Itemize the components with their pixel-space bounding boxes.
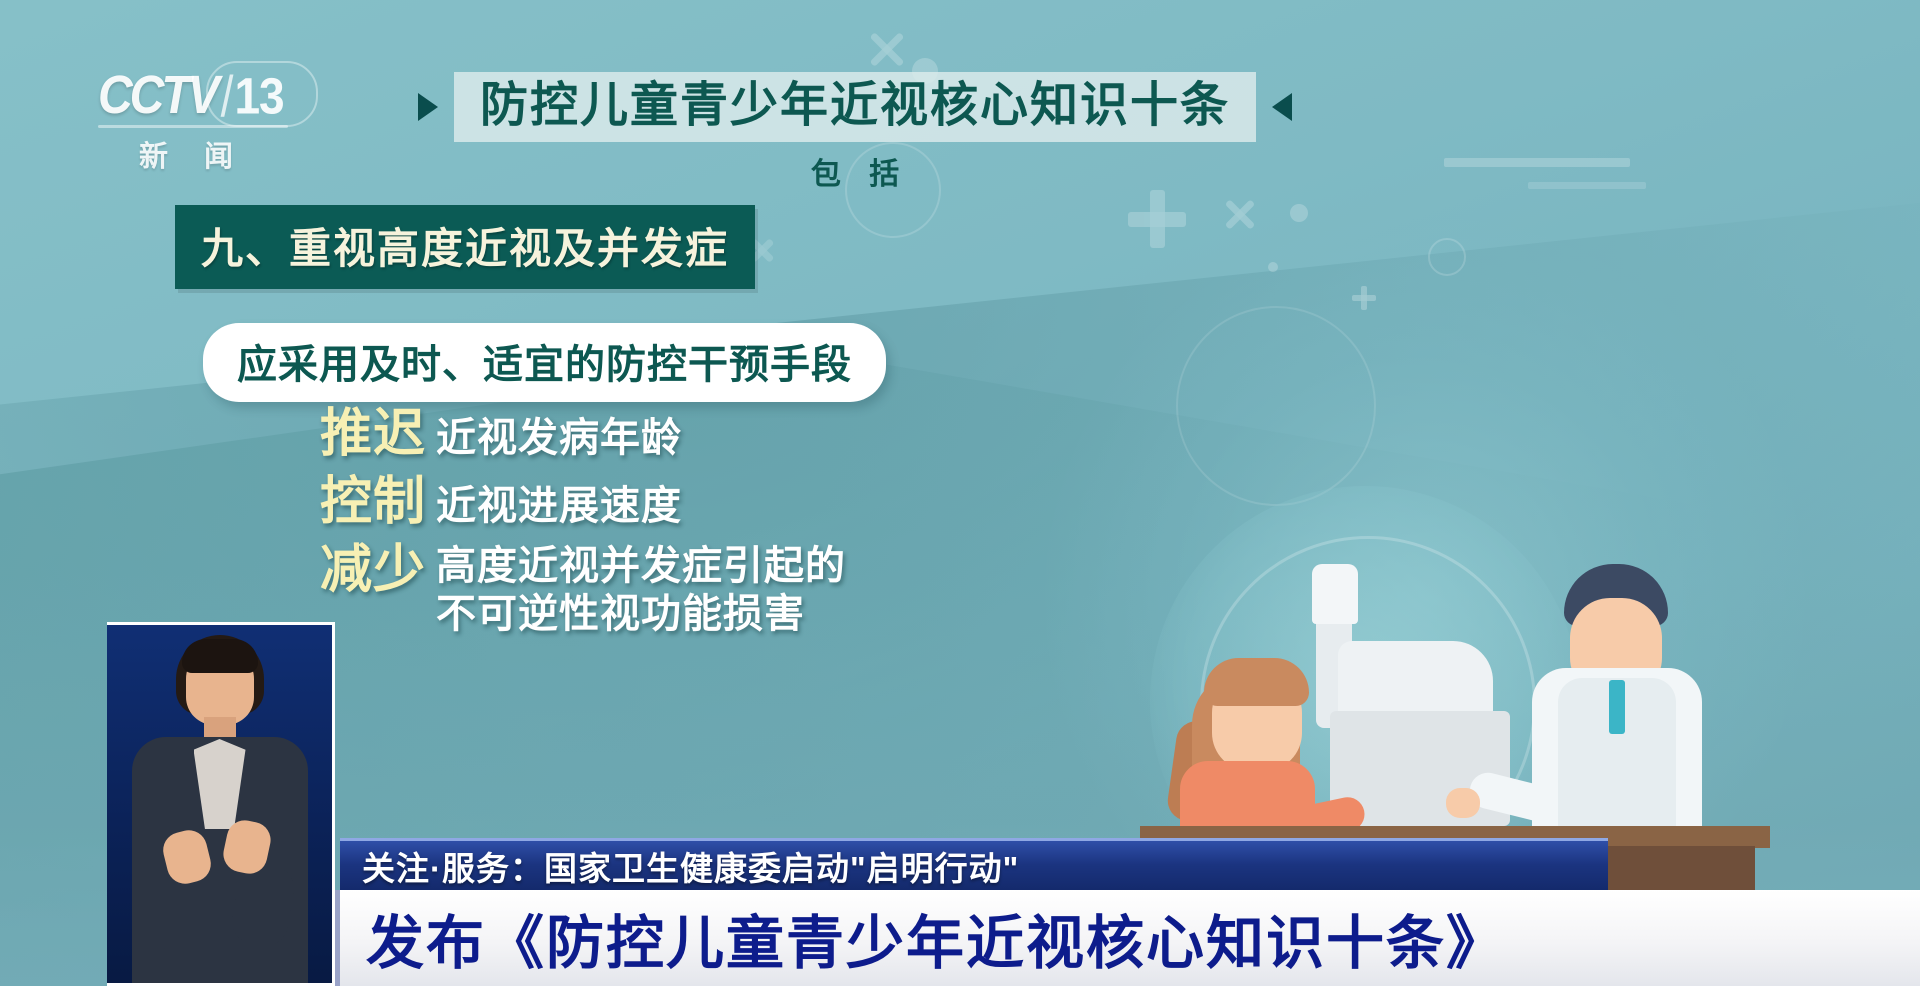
highlight-pill-label: 应采用及时、适宜的防控干预手段	[237, 343, 852, 387]
list-item: 控制 近视进展速度	[320, 473, 1080, 531]
background-bar-1	[1444, 158, 1630, 167]
section-banner: 九、重视高度近视及并发症	[175, 205, 755, 289]
section-label: 九、重视高度近视及并发症	[201, 225, 729, 272]
point-keyword: 减少	[320, 541, 426, 599]
header-title-row: 防控儿童青少年近视核心知识十条	[360, 72, 1350, 142]
point-description: 近视发病年龄	[426, 405, 682, 462]
header-block: 防控儿童青少年近视核心知识十条 包 括	[360, 72, 1350, 193]
list-item: 减少 高度近视并发症引起的 不可逆性视功能损害	[320, 541, 1080, 637]
logo-channel-number: 13	[234, 66, 283, 125]
x-mark-icon-2	[1222, 196, 1258, 232]
x-mark-icon-1	[866, 28, 908, 70]
slit-lamp-head-icon	[1312, 564, 1358, 624]
triangle-right-icon	[418, 93, 438, 121]
header-title-plate: 防控儿童青少年近视核心知识十条	[454, 72, 1256, 142]
background-dot-3	[1268, 262, 1278, 272]
point-description-line1: 近视发病年龄	[436, 416, 682, 460]
background-dot-2	[1290, 204, 1308, 222]
background-bar-2	[1528, 182, 1646, 189]
cctv13-logo-icon: CCTV / 13	[98, 68, 313, 123]
plus-icon-large	[1128, 190, 1186, 248]
point-description-line2: 不可逆性视功能损害	[436, 591, 846, 638]
background-ring-small	[1428, 238, 1466, 276]
doctor-tie	[1609, 680, 1625, 734]
header-subtitle: 包 括	[360, 149, 1350, 193]
presenter-fringe	[182, 639, 258, 673]
page-title: 防控儿童青少年近视核心知识十条	[480, 79, 1230, 132]
sign-language-interpreter	[107, 622, 335, 986]
broadcast-screen: CCTV / 13 新 闻 防控儿童青少年近视核心知识十条 包 括 九、重视高度…	[0, 0, 1920, 986]
ticker-text: 关注·服务：国家卫生健康委启动"启明行动"	[362, 842, 1019, 890]
point-keyword: 控制	[320, 473, 426, 531]
lower-third-headline: 发布《防控儿童青少年近视核心知识十条》	[340, 890, 1920, 986]
highlight-pill: 应采用及时、适宜的防控干预手段	[203, 323, 886, 402]
point-description: 近视进展速度	[426, 473, 682, 530]
point-description: 高度近视并发症引起的 不可逆性视功能损害	[426, 541, 846, 637]
plus-icon-small	[1352, 286, 1376, 310]
list-item: 推迟 近视发病年龄	[320, 405, 1080, 463]
girl-patient-fringe	[1204, 658, 1309, 706]
point-description-line1: 高度近视并发症引起的	[436, 543, 846, 590]
logo-sub-label: 新 闻	[98, 133, 288, 175]
lower-third-ticker: 关注·服务：国家卫生健康委启动"启明行动"	[340, 838, 1608, 890]
doctor-hand	[1446, 788, 1480, 818]
point-list: 推迟 近视发病年龄 控制 近视进展速度 减少 高度近视并发症引起的 不可逆性视功…	[320, 405, 1080, 648]
headline-text: 发布《防控儿童青少年近视核心知识十条》	[366, 896, 1506, 980]
logo-slash: /	[221, 62, 234, 130]
point-keyword: 推迟	[320, 405, 426, 463]
channel-logo: CCTV / 13 新 闻	[98, 68, 313, 175]
logo-network-text: CCTV	[98, 65, 217, 127]
triangle-left-icon	[1272, 93, 1292, 121]
point-description-line1: 近视进展速度	[436, 484, 682, 528]
